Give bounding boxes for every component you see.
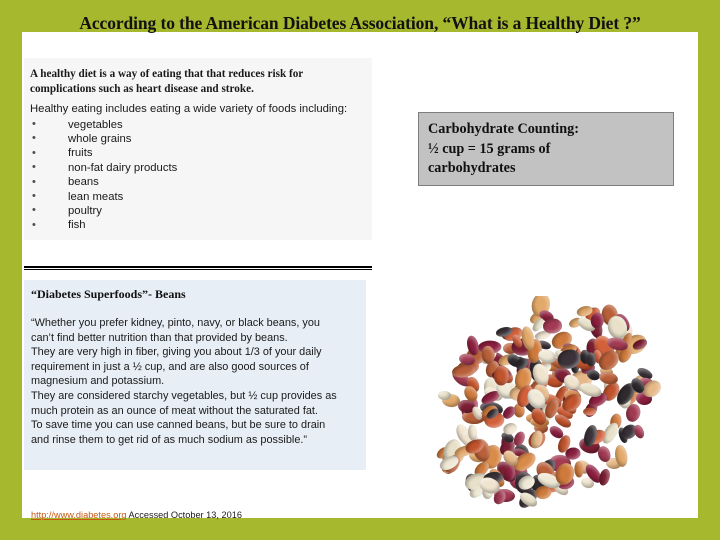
list-item-label: vegetables — [68, 119, 123, 131]
carb-box-line-1: Carbohydrate Counting: — [428, 120, 665, 140]
list-item-label: fruits — [68, 147, 92, 159]
bean — [438, 390, 452, 399]
page-title: According to the American Diabetes Assoc… — [22, 13, 698, 34]
source-url-link[interactable]: http://www.diabetes.org — [31, 510, 127, 520]
list-item: •non-fat dairy products — [30, 161, 362, 175]
superfoods-line: “Whether you prefer kidney, pinto, navy,… — [31, 316, 356, 331]
carb-box-line-2: ½ cup = 15 grams of — [428, 140, 665, 160]
superfoods-line: requirement in just a ½ cup, and are als… — [31, 360, 356, 375]
superfoods-line: They are considered starchy vegetables, … — [31, 389, 356, 404]
bullet-icon: • — [32, 160, 36, 174]
list-item-label: whole grains — [68, 133, 131, 145]
list-item: •lean meats — [30, 190, 362, 204]
divider-thin-rule — [24, 269, 372, 270]
list-item: •fruits — [30, 146, 362, 160]
healthy-diet-intro: A healthy diet is a way of eating that t… — [30, 67, 362, 96]
superfoods-heading: “Diabetes Superfoods”- Beans — [31, 287, 356, 302]
superfoods-line: and rinse them to get rid of as much sod… — [31, 433, 356, 448]
carb-box-line-3: carbohydrates — [428, 159, 665, 179]
accessed-date: Accessed October 13, 2016 — [127, 510, 242, 520]
superfoods-line: magnesium and potassium. — [31, 374, 356, 389]
list-item: •whole grains — [30, 132, 362, 146]
bean — [632, 424, 646, 440]
superfoods-body-text: “Whether you prefer kidney, pinto, navy,… — [31, 316, 356, 447]
slide-canvas: According to the American Diabetes Assoc… — [0, 0, 720, 540]
bullet-icon: • — [32, 146, 36, 160]
list-item: •poultry — [30, 204, 362, 218]
bean — [585, 352, 596, 366]
healthy-diet-textbox: A healthy diet is a way of eating that t… — [24, 58, 372, 240]
bullet-icon: • — [32, 131, 36, 145]
list-item-label: non-fat dairy products — [68, 162, 177, 174]
bean — [597, 468, 611, 487]
list-item-label: fish — [68, 219, 86, 231]
diabetes-superfoods-box: “Diabetes Superfoods”- Beans “Whether yo… — [24, 280, 366, 470]
carbohydrate-counting-box: Carbohydrate Counting: ½ cup = 15 grams … — [418, 112, 674, 186]
bullet-icon: • — [32, 117, 36, 131]
bullet-icon: • — [32, 203, 36, 217]
bullet-icon: • — [32, 218, 36, 232]
superfoods-line: To save time you can use canned beans, b… — [31, 418, 356, 433]
healthy-foods-list: •vegetables•whole grains•fruits•non-fat … — [30, 118, 362, 233]
list-item: •beans — [30, 175, 362, 189]
list-item-label: lean meats — [68, 191, 123, 203]
beans-photo — [408, 296, 680, 512]
list-item-label: poultry — [68, 205, 102, 217]
bullet-icon: • — [32, 175, 36, 189]
bullet-icon: • — [32, 189, 36, 203]
list-item-label: beans — [68, 176, 99, 188]
superfoods-line: They are very high in fiber, giving you … — [31, 345, 356, 360]
superfoods-line: much protein as an ounce of meat without… — [31, 404, 356, 419]
healthy-diet-lead-in: Healthy eating includes eating a wide va… — [30, 102, 362, 117]
source-citation: http://www.diabetes.org Accessed October… — [31, 510, 242, 520]
list-item: •fish — [30, 218, 362, 232]
bean — [574, 461, 584, 477]
section-divider — [24, 266, 372, 272]
superfoods-line: can’t find better nutrition than that pr… — [31, 331, 356, 346]
list-item: •vegetables — [30, 118, 362, 132]
bean — [582, 408, 595, 416]
